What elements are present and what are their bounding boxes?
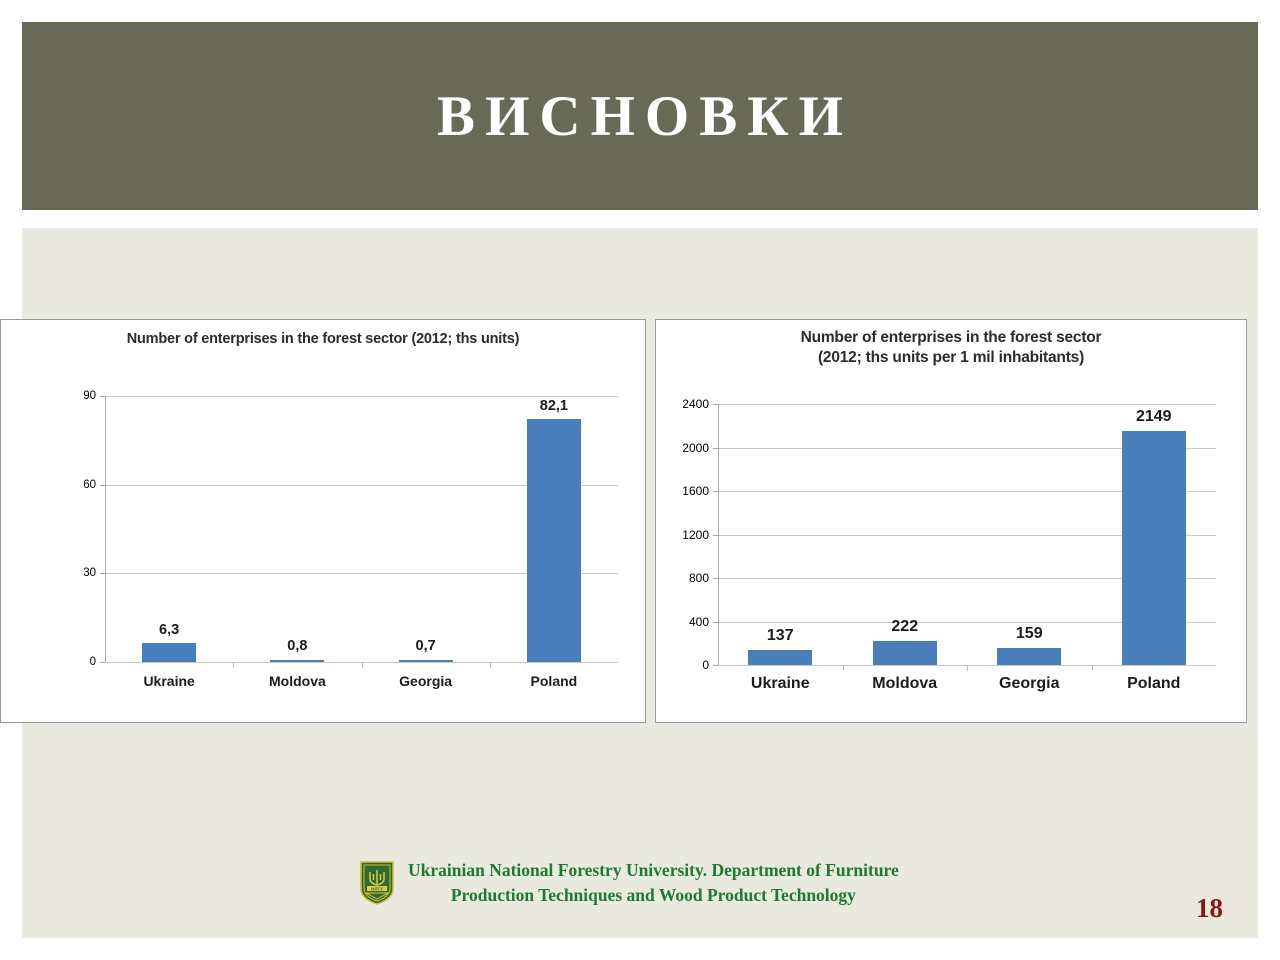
y-axis-tick-label: 400 (689, 615, 709, 629)
y-axis-tick-label: 1200 (682, 528, 709, 542)
bar-value-label: 222 (891, 618, 918, 636)
chart-left-title-line1: Number of enterprises in the forest sect… (127, 331, 519, 347)
x-axis-category-label: Poland (1127, 675, 1180, 693)
page-title: ВИСНОВКИ (427, 88, 853, 145)
y-tick-mark (100, 662, 105, 663)
y-tick-mark (713, 665, 718, 666)
chart-left-plot-area: 03060906,3Ukraine0,8Moldova0,7Georgia82,… (1, 380, 645, 722)
chart-left-title: Number of enterprises in the forest sect… (1, 320, 645, 349)
page-number: 18 (1196, 893, 1223, 924)
chart-right-plot-area: 04008001200160020002400137Ukraine222Mold… (656, 388, 1246, 722)
x-axis-category-label: Georgia (399, 673, 452, 689)
y-axis-tick-label: 0 (702, 658, 709, 672)
bar-value-label: 0,8 (287, 638, 307, 654)
chart-right-title-line2: (2012; ths units per 1 mil inhabitants) (818, 349, 1084, 366)
chart-right-title-line1: Number of enterprises in the forest sect… (801, 329, 1102, 346)
chart-panel-right: Number of enterprises in the forest sect… (655, 319, 1247, 723)
x-tick-mark (362, 662, 363, 668)
footer: НЛТУ Ukrainian National Forestry Univers… (360, 858, 1000, 908)
y-axis-tick-label: 0 (90, 656, 96, 668)
bar (997, 648, 1061, 665)
y-axis-tick-label: 90 (83, 390, 96, 402)
chart-panel-left: Number of enterprises in the forest sect… (0, 319, 646, 723)
bar-value-label: 137 (767, 627, 794, 645)
y-axis-line (105, 396, 106, 662)
slide-canvas: ВИСНОВКИ Number of enterprises in the fo… (0, 0, 1280, 960)
bar (142, 643, 196, 662)
x-tick-mark (967, 665, 968, 671)
x-axis-category-label: Ukraine (143, 673, 194, 689)
gridline (718, 404, 1216, 405)
bar (527, 419, 581, 662)
university-crest-logo: НЛТУ (360, 861, 394, 905)
y-axis-tick-label: 1600 (682, 484, 709, 498)
slide-title-banner: ВИСНОВКИ (22, 22, 1258, 210)
bar-value-label: 82,1 (540, 398, 568, 414)
bar (1122, 431, 1186, 665)
footer-line-2: Production Techniques and Wood Product T… (408, 883, 899, 908)
bar (873, 641, 937, 665)
crest-label: НЛТУ (371, 886, 383, 891)
x-axis-category-label: Moldova (269, 673, 326, 689)
bar-value-label: 2149 (1136, 408, 1172, 426)
y-axis-line (718, 404, 719, 665)
chart-right-title: Number of enterprises in the forest sect… (656, 320, 1246, 368)
x-tick-mark (490, 662, 491, 668)
x-tick-mark (843, 665, 844, 671)
y-axis-tick-label: 60 (83, 479, 96, 491)
y-axis-tick-label: 800 (689, 571, 709, 585)
y-axis-tick-label: 2400 (682, 397, 709, 411)
bar-value-label: 0,7 (416, 638, 436, 654)
footer-text: Ukrainian National Forestry University. … (408, 858, 899, 908)
x-axis-category-label: Georgia (999, 675, 1059, 693)
bar-value-label: 159 (1016, 625, 1043, 643)
charts-row: Number of enterprises in the forest sect… (0, 319, 1280, 723)
x-axis-category-label: Poland (531, 673, 578, 689)
y-axis-tick-label: 2000 (682, 441, 709, 455)
x-axis-category-label: Moldova (872, 675, 937, 693)
bar-value-label: 6,3 (159, 622, 179, 638)
x-tick-mark (233, 662, 234, 668)
footer-line-1: Ukrainian National Forestry University. … (408, 858, 899, 883)
gridline (105, 396, 618, 397)
bar (399, 660, 453, 662)
bar (270, 660, 324, 662)
bar (748, 650, 812, 665)
y-axis-tick-label: 30 (83, 567, 96, 579)
x-axis-category-label: Ukraine (751, 675, 810, 693)
x-tick-mark (1092, 665, 1093, 671)
